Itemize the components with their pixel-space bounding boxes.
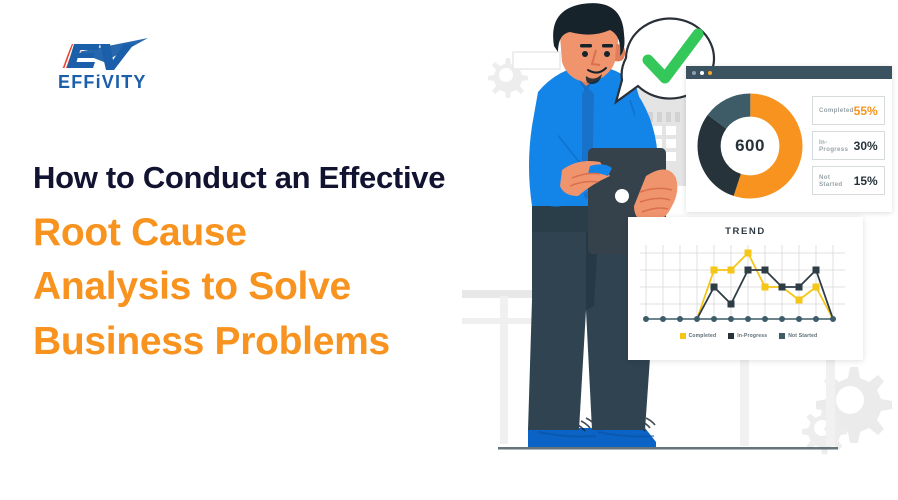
legend-item-completed[interactable]: Completed 55% xyxy=(812,96,885,125)
window-dot-2[interactable] xyxy=(700,71,704,75)
shoe-left xyxy=(528,428,600,447)
window-title-bar xyxy=(686,66,892,79)
background-card xyxy=(513,52,560,69)
trend-title: TREND xyxy=(640,226,851,237)
trend-chart-panel: TREND xyxy=(628,217,863,360)
legend-label: Completed xyxy=(819,107,854,114)
window-dot-3[interactable] xyxy=(708,71,712,75)
banner-canvas: EFFiVITY How to Conduct an Effective Roo… xyxy=(0,0,898,500)
headline-block: How to Conduct an Effective Root Cause A… xyxy=(33,158,503,369)
legend-label: In-Progress xyxy=(737,333,767,339)
legend-label: Completed xyxy=(689,333,717,339)
legend-item-in-progress[interactable]: In-Progress 30% xyxy=(812,131,885,160)
donut-chart-panel: 600 Completed 55% In-Progress 30% Not St… xyxy=(686,66,892,212)
logo-wordmark: EFFiVITY xyxy=(58,72,147,90)
headline-accent-line-1: Root Cause xyxy=(33,206,503,261)
legend-swatch xyxy=(680,333,686,339)
tablet-home-button xyxy=(615,189,629,203)
legend-swatch xyxy=(779,333,785,339)
donut-center-value: 600 xyxy=(735,136,765,156)
headline-accent-line-2: Analysis to Solve xyxy=(33,260,503,315)
effivity-logo[interactable]: EFFiVITY xyxy=(44,32,164,88)
legend-value: 55% xyxy=(854,104,878,118)
donut-legend: Completed 55% In-Progress 30% Not Starte… xyxy=(812,96,885,195)
trend-legend-item-not-started[interactable]: Not Started xyxy=(779,333,817,339)
legend-value: 15% xyxy=(854,174,878,188)
trend-legend-item-in-progress[interactable]: In-Progress xyxy=(728,333,767,339)
headline-line-1: How to Conduct an Effective xyxy=(33,158,503,198)
trend-legend-item-completed[interactable]: Completed xyxy=(680,333,717,339)
headline-accent-line-3: Business Problems xyxy=(33,315,503,370)
legend-item-not-started[interactable]: Not Started 15% xyxy=(812,166,885,195)
shoe-right xyxy=(590,428,656,447)
window-dot-1[interactable] xyxy=(692,71,696,75)
legend-label: In-Progress xyxy=(819,139,854,153)
trend-legend: Completed In-Progress Not Started xyxy=(640,333,851,339)
legend-value: 30% xyxy=(854,139,878,153)
floor-line xyxy=(498,447,838,450)
donut-chart: 600 xyxy=(696,92,804,200)
legend-label: Not Started xyxy=(788,333,817,339)
trend-chart xyxy=(640,243,851,329)
legend-label: Not Started xyxy=(819,174,854,188)
legend-swatch xyxy=(728,333,734,339)
headline-accent: Root Cause Analysis to Solve Business Pr… xyxy=(33,206,503,370)
